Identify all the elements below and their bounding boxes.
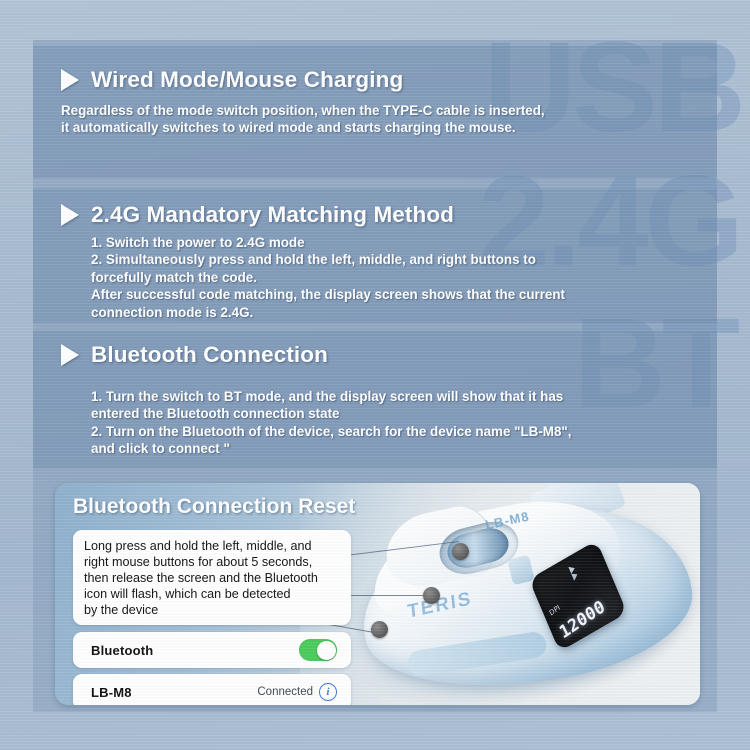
screen-dpi-label: DPI bbox=[548, 604, 561, 618]
info-circle-icon[interactable]: i bbox=[319, 683, 337, 701]
section-heading: Wired Mode/Mouse Charging bbox=[33, 45, 717, 93]
connection-status: Connected bbox=[257, 686, 313, 698]
bluetooth-toggle[interactable] bbox=[299, 639, 337, 661]
settings-row-device[interactable]: LB-M8 Connected i bbox=[73, 674, 351, 705]
section-body: 1. Turn the switch to BT mode, and the d… bbox=[33, 368, 717, 458]
section-wired-mode: Wired Mode/Mouse Charging Regardless of … bbox=[33, 45, 717, 178]
infographic-page: USB 2.4G BT Wired Mode/Mouse Charging Re… bbox=[0, 0, 750, 750]
bluetooth-icon bbox=[564, 564, 579, 583]
reset-instruction-text: Long press and hold the left, middle, an… bbox=[73, 530, 351, 619]
section-bluetooth-connection: Bluetooth Connection 1. Turn the switch … bbox=[33, 330, 717, 468]
section-heading: Bluetooth Connection bbox=[33, 330, 717, 368]
section-heading: 2.4G Mandatory Matching Method bbox=[33, 188, 717, 228]
row-label: LB-M8 bbox=[73, 685, 132, 700]
section-24g-matching: 2.4G Mandatory Matching Method 1. Switch… bbox=[33, 188, 717, 323]
settings-row-bluetooth[interactable]: Bluetooth bbox=[73, 632, 351, 668]
section-title: Bluetooth Connection bbox=[91, 342, 328, 368]
section-body: 1. Switch the power to 2.4G mode 2. Simu… bbox=[33, 228, 717, 321]
callout-dot bbox=[452, 543, 469, 560]
callout-dot bbox=[371, 621, 388, 638]
bluetooth-reset-card: TERIS LB-M8 DPI 12000 Bluetooth Connecti… bbox=[55, 483, 700, 705]
row-label: Bluetooth bbox=[73, 643, 153, 658]
section-body: Regardless of the mode switch position, … bbox=[33, 93, 717, 137]
section-title: Wired Mode/Mouse Charging bbox=[91, 67, 403, 93]
triangle-bullet-icon bbox=[61, 69, 79, 91]
section-title: 2.4G Mandatory Matching Method bbox=[91, 202, 454, 228]
callout-dot bbox=[423, 587, 440, 604]
toggle-knob bbox=[317, 641, 336, 660]
row-control: Connected i bbox=[257, 683, 351, 701]
row-control bbox=[299, 639, 351, 661]
reset-instruction-box: Long press and hold the left, middle, an… bbox=[73, 530, 351, 625]
reset-card-title: Bluetooth Connection Reset bbox=[73, 495, 355, 519]
triangle-bullet-icon bbox=[61, 344, 79, 366]
triangle-bullet-icon bbox=[61, 204, 79, 226]
